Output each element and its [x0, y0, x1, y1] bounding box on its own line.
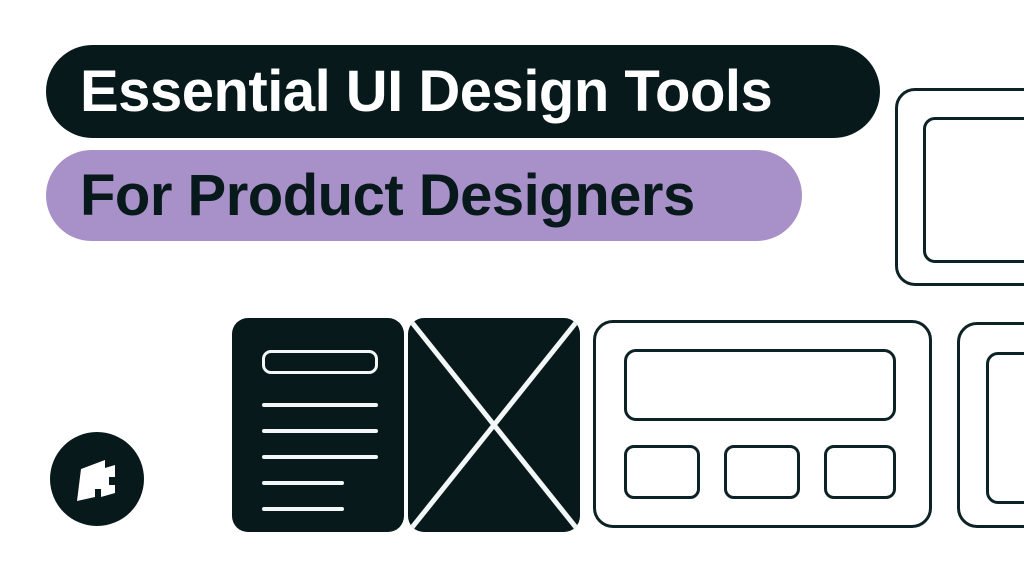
wireframe-tile — [824, 445, 896, 499]
brand-logo-badge[interactable] — [50, 432, 144, 526]
headline-line-2: For Product Designers — [80, 167, 695, 225]
wireframe-tile — [624, 445, 700, 499]
wireframe-card-sidebar — [232, 318, 404, 532]
lightning-flag-icon — [71, 455, 123, 503]
placeholder-x-icon — [408, 318, 580, 532]
wireframe-tile — [724, 445, 800, 499]
wireframe-card-grid-layout — [593, 320, 932, 528]
headline-pill-primary: Essential UI Design Tools — [46, 45, 880, 138]
wireframe-text-line — [262, 481, 344, 485]
wireframe-text-line — [262, 455, 378, 459]
poster-canvas: Essential UI Design Tools For Product De… — [0, 0, 1024, 576]
wireframe-input-field — [262, 350, 378, 374]
headline-line-1: Essential UI Design Tools — [80, 63, 772, 121]
wireframe-text-line — [262, 403, 378, 407]
wireframe-inner-frame — [923, 117, 1024, 263]
wireframe-inner-frame — [986, 352, 1024, 504]
wireframe-hero-block — [624, 349, 896, 421]
wireframe-card-frame-top-right — [895, 88, 1024, 286]
wireframe-card-image-placeholder — [408, 318, 580, 532]
wireframe-text-line — [262, 507, 344, 511]
headline-pill-secondary: For Product Designers — [46, 150, 802, 241]
wireframe-card-frame-bottom-right — [957, 322, 1024, 528]
wireframe-text-line — [262, 429, 378, 433]
